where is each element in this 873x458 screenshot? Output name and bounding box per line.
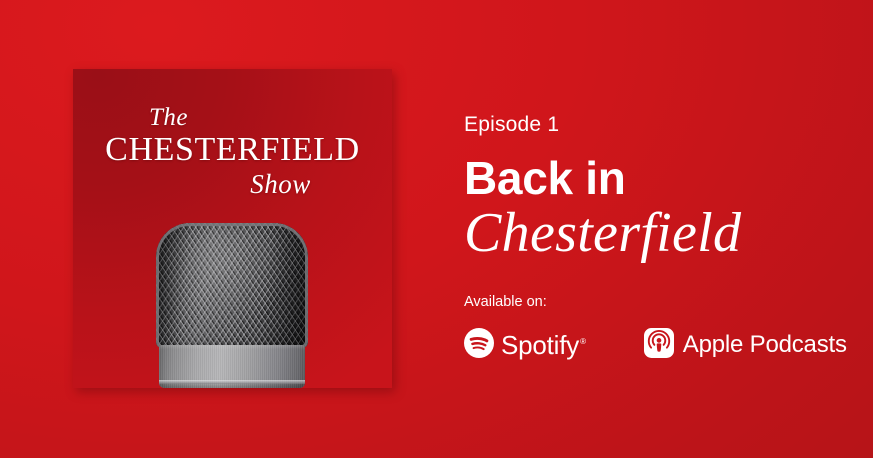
microphone-body — [159, 345, 305, 388]
spotify-registered-mark: ® — [580, 337, 586, 346]
artwork-the-text: The — [73, 105, 392, 130]
platform-badge-row: Spotify® Apple Podcasts — [464, 328, 854, 363]
microphone-icon — [156, 223, 308, 388]
microphone-grille-rim — [156, 223, 308, 348]
episode-info-panel: Episode 1 Back in Chesterfield — [464, 114, 844, 263]
album-artwork[interactable]: The CHESTERFIELD Show — [73, 69, 392, 388]
artwork-title-block: The CHESTERFIELD Show — [73, 105, 392, 198]
podcast-promo-banner: The CHESTERFIELD Show Episode 1 Back in … — [0, 0, 873, 458]
artwork-show-word: Show — [73, 171, 392, 198]
spotify-badge[interactable]: Spotify® — [464, 328, 586, 363]
apple-podcasts-label: Apple Podcasts — [683, 331, 847, 359]
available-on-label: Available on: — [464, 295, 854, 310]
episode-title-line-1: Back in — [464, 155, 844, 201]
apple-podcasts-icon — [644, 328, 674, 363]
episode-number-label: Episode 1 — [464, 114, 844, 135]
apple-podcasts-badge[interactable]: Apple Podcasts — [644, 328, 847, 363]
artwork-show-name: CHESTERFIELD — [73, 132, 392, 168]
available-on-section: Available on: Spotify® — [464, 295, 854, 363]
episode-title-line-2: Chesterfield — [464, 203, 844, 263]
spotify-label: Spotify® — [501, 330, 586, 361]
microphone-grille — [156, 223, 308, 348]
microphone-body-ring — [159, 380, 305, 384]
spotify-icon — [464, 328, 494, 363]
episode-title: Back in Chesterfield — [464, 155, 844, 263]
